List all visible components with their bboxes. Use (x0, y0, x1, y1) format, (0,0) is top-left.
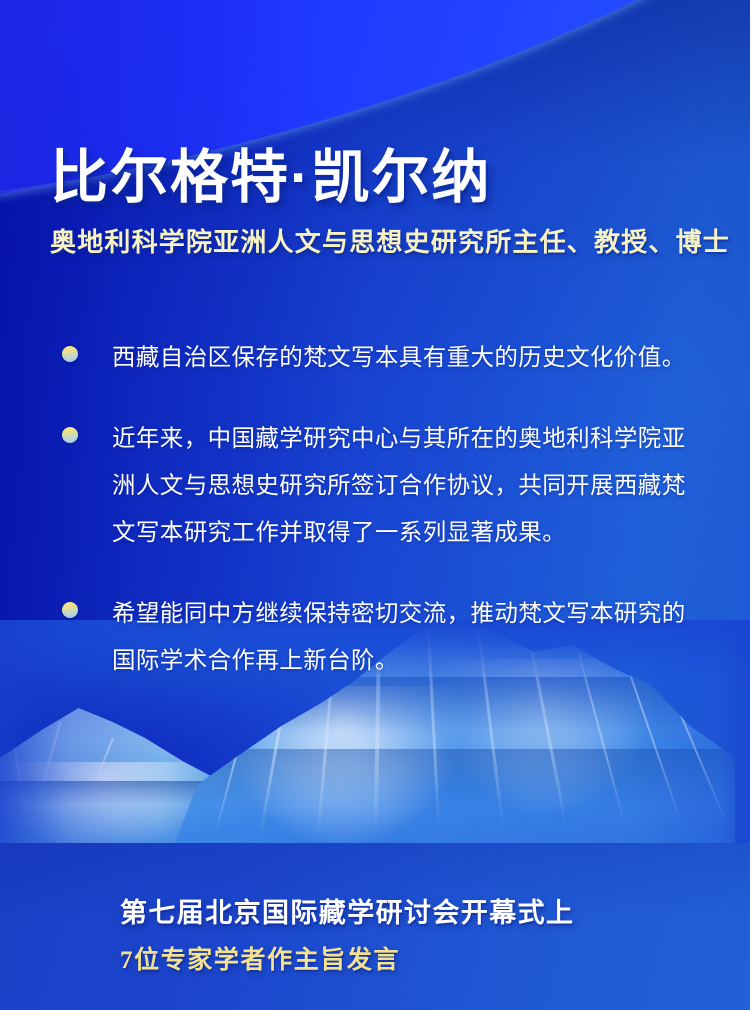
bullet-text: 希望能同中方继续保持密切交流，推动梵文写本研究的国际学术合作再上新台阶。 (112, 590, 706, 684)
footer-caption: 第七届北京国际藏学研讨会开幕式上 7位专家学者作主旨发言 (120, 891, 574, 976)
footer-event-subtitle: 7位专家学者作主旨发言 (120, 940, 574, 976)
bullet-text: 近年来，中国藏学研究中心与其所在的奥地利科学院亚洲人文与思想史研究所签订合作协议… (112, 415, 706, 556)
bullet-text: 西藏自治区保存的梵文写本具有重大的历史文化价值。 (112, 334, 706, 381)
bullet-dot-icon (62, 346, 78, 362)
list-item: 希望能同中方继续保持密切交流，推动梵文写本研究的国际学术合作再上新台阶。 (58, 590, 706, 684)
poster-canvas: 比尔格特·凯尔纳 奥地利科学院亚洲人文与思想史研究所主任、教授、博士 西藏自治区… (0, 0, 750, 1010)
quote-bullet-list: 西藏自治区保存的梵文写本具有重大的历史文化价值。 近年来，中国藏学研究中心与其所… (58, 334, 706, 718)
bullet-dot-icon (62, 427, 78, 443)
list-item: 西藏自治区保存的梵文写本具有重大的历史文化价值。 (58, 334, 706, 381)
speaker-affiliation-subtitle: 奥地利科学院亚洲人文与思想史研究所主任、教授、博士 (50, 222, 720, 259)
bullet-dot-icon (62, 602, 78, 618)
header-block: 比尔格特·凯尔纳 奥地利科学院亚洲人文与思想史研究所主任、教授、博士 (50, 146, 720, 259)
footer-event-title: 第七届北京国际藏学研讨会开幕式上 (120, 891, 574, 930)
list-item: 近年来，中国藏学研究中心与其所在的奥地利科学院亚洲人文与思想史研究所签订合作协议… (58, 415, 706, 556)
speaker-name-title: 比尔格特·凯尔纳 (50, 146, 720, 211)
